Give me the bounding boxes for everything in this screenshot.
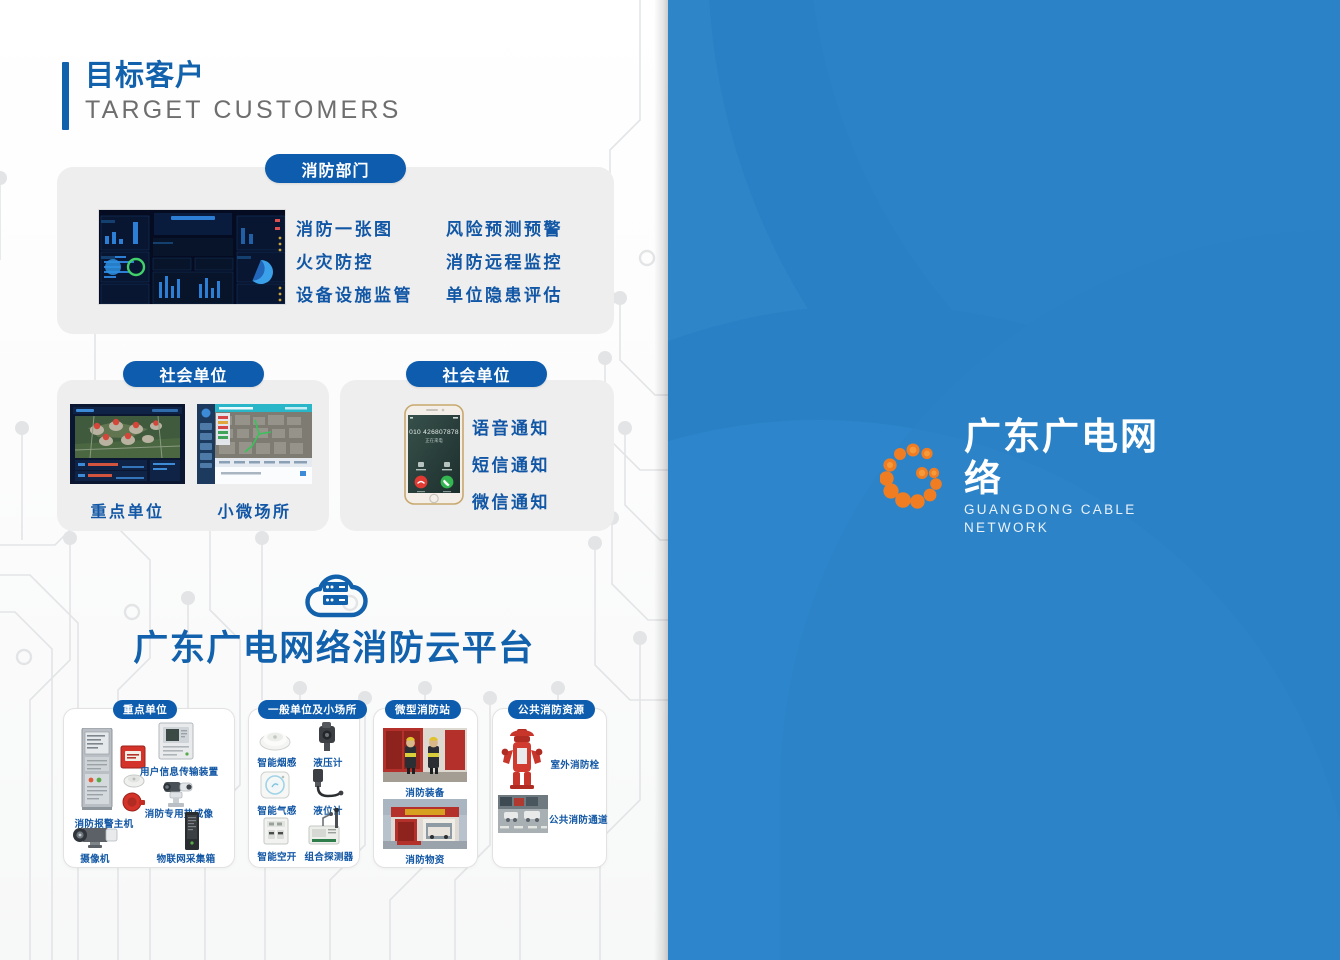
public-fire-lane-photo [498, 795, 548, 838]
pill-general-units: 一般单位及小场所 [258, 700, 367, 719]
logo-name-cn: 广东广电网络 [964, 416, 1165, 500]
feature-item: 单位隐患评估 [446, 279, 596, 312]
user-info-transmission-device [157, 722, 195, 765]
label-smart-breaker: 智能空开 [253, 849, 301, 863]
fire-alarm-control-panel [78, 728, 118, 815]
page-title-block: 目标客户 TARGET CUSTOMERS [62, 58, 402, 130]
caption-micro-venue: 小微场所 [197, 498, 312, 522]
feature-item: 风险预测预警 [446, 213, 596, 246]
box-camera [70, 823, 120, 854]
label-transmission-device: 用户信息传输装置 [140, 764, 214, 778]
left-content-panel: 目标客户 TARGET CUSTOMERS 消防部门 [0, 0, 668, 960]
platform-title: 广东广电网络消防云平台 [0, 620, 668, 671]
label-fire-equipment: 消防装备 [383, 785, 467, 799]
feature-item: 火灾防控 [296, 246, 446, 279]
logo-text-block: 广东广电网络 GUANGDONG CABLE NETWORK [964, 416, 1165, 537]
smartphone-incoming-call: 010 426807878 正在来电 [404, 404, 464, 505]
right-brand-panel: 广东广电网络 GUANGDONG CABLE NETWORK [668, 0, 1340, 960]
label-public-fire-lane: 公共消防通道 [549, 812, 607, 826]
label-smart-smoke: 智能烟感 [253, 755, 301, 769]
pill-micro-fire-station: 微型消防站 [385, 700, 461, 719]
label-outdoor-hydrant: 室外消防栓 [547, 757, 603, 771]
pill-key-units: 重点单位 [113, 700, 177, 719]
firefighters-equipment-photo [383, 728, 467, 787]
guangdong-cable-g-mark [880, 443, 948, 509]
iot-collection-box [182, 812, 202, 855]
title-accent-bar [62, 62, 69, 130]
logo-name-en: GUANGDONG CABLE NETWORK [964, 501, 1165, 537]
label-smart-gas: 智能气感 [253, 803, 301, 817]
notification-list: 语音通知 短信通知 微信通知 [472, 410, 550, 521]
outdoor-fire-hydrant [500, 728, 544, 795]
key-unit-3d-map-screenshot [70, 404, 185, 484]
fire-dashboard-screenshot [98, 209, 286, 305]
pill-fire-department: 消防部门 [265, 154, 406, 183]
svg-text:010 426807878: 010 426807878 [409, 429, 459, 436]
fire-department-feature-list: 消防一张图 风险预测预警 火灾防控 消防远程监控 设备设施监管 单位隐患评估 [296, 213, 596, 312]
feature-item: 消防一张图 [296, 213, 446, 246]
label-box-camera: 摄像机 [68, 851, 122, 865]
page-title: 目标客户 [85, 58, 402, 94]
pill-public-fire-resources: 公共消防资源 [508, 700, 595, 719]
pill-social-units-b: 社会单位 [406, 361, 547, 387]
fire-alarm-bell-icon [120, 791, 146, 818]
poster-page: 目标客户 TARGET CUSTOMERS 消防部门 [0, 0, 1340, 960]
micro-venue-map-screenshot [197, 404, 312, 484]
label-thermal-camera: 消防专用热成像 [144, 806, 214, 820]
combined-detector [305, 808, 349, 853]
label-hydraulic-gauge: 液压计 [308, 755, 348, 769]
pill-social-units-a: 社会单位 [123, 361, 264, 387]
notification-item: 微信通知 [472, 484, 550, 521]
label-fire-supplies: 消防物资 [383, 852, 467, 866]
page-subtitle: TARGET CUSTOMERS [85, 94, 402, 126]
svg-text:正在来电: 正在来电 [425, 437, 443, 444]
feature-item: 消防远程监控 [446, 246, 596, 279]
fire-station-building-photo [383, 799, 467, 854]
cloud-server-icon [301, 567, 371, 619]
feature-item: 设备设施监管 [296, 279, 446, 312]
label-combined-detector: 组合探测器 [303, 849, 355, 863]
guangdong-cable-network-logo: 广东广电网络 GUANGDONG CABLE NETWORK [880, 440, 1165, 512]
caption-key-unit: 重点单位 [70, 498, 185, 522]
smart-smoke-detector [258, 726, 292, 757]
notification-item: 语音通知 [472, 410, 550, 447]
notification-item: 短信通知 [472, 447, 550, 484]
smart-gas-detector [258, 770, 292, 805]
smart-circuit-breaker [262, 816, 290, 851]
label-iot-box: 物联网采集箱 [150, 851, 222, 865]
hydraulic-gauge [312, 722, 342, 757]
liquid-level-gauge [308, 768, 346, 805]
